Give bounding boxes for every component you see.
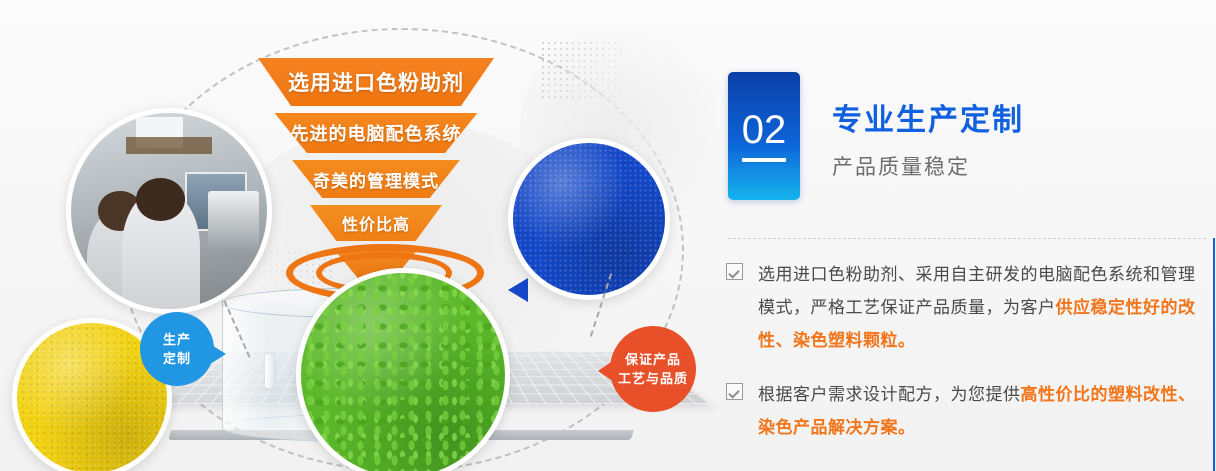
blue-pigment-powder bbox=[508, 138, 670, 300]
cylinder-handle-left bbox=[265, 354, 274, 388]
factory-lab-photo bbox=[66, 108, 272, 314]
checkbox-checked-icon bbox=[726, 263, 743, 280]
badge-orange-line-2: 工艺与品质 bbox=[618, 369, 688, 388]
illustration-panel: 选用进口色粉助剂 先进的电脑配色系统 奇美的管理模式 性价比高 bbox=[0, 0, 716, 471]
page-subtitle: 产品质量稳定 bbox=[832, 151, 1024, 181]
funnel-level-1: 选用进口色粉助剂 bbox=[258, 58, 494, 106]
page-title: 专业生产定制 bbox=[832, 104, 1024, 139]
promo-banner: 选用进口色粉助剂 先进的电脑配色系统 奇美的管理模式 性价比高 bbox=[0, 0, 1216, 471]
section-number-badge: 02 bbox=[728, 72, 800, 200]
halftone-dots-1 bbox=[540, 40, 626, 100]
right-edge-accent-line bbox=[1213, 238, 1215, 471]
heading-block: 专业生产定制 产品质量稳定 bbox=[832, 104, 1024, 181]
bullet-2-plain: 根据客户需求设计配方，为您提供 bbox=[758, 385, 1021, 404]
badge-blue-line-1: 生产 bbox=[163, 330, 191, 349]
divider bbox=[728, 238, 1206, 239]
funnel-level-4: 性价比高 bbox=[310, 205, 442, 241]
badge-production-custom: 生产 定制 bbox=[140, 312, 214, 386]
green-plastic-pellets bbox=[296, 268, 510, 471]
content-panel: 02 专业生产定制 产品质量稳定 选用进口色粉助剂、采用自主研发的电脑配色系统和… bbox=[716, 0, 1216, 471]
badge-quality-guarantee: 保证产品 工艺与品质 bbox=[610, 326, 696, 412]
funnel-level-3: 奇美的管理模式 bbox=[292, 160, 460, 198]
list-item: 选用进口色粉助剂、采用自主研发的电脑配色系统和管理模式，严格工艺保证产品质量，为… bbox=[726, 258, 1212, 357]
bullet-1-text: 选用进口色粉助剂、采用自主研发的电脑配色系统和管理模式，严格工艺保证产品质量，为… bbox=[758, 258, 1212, 357]
bullet-2-text: 根据客户需求设计配方，为您提供高性价比的塑料改性、染色产品解决方案。 bbox=[758, 378, 1212, 444]
list-item: 根据客户需求设计配方，为您提供高性价比的塑料改性、染色产品解决方案。 bbox=[726, 378, 1212, 444]
section-number: 02 bbox=[742, 110, 787, 162]
checkbox-checked-icon bbox=[726, 383, 743, 400]
funnel-level-2: 先进的电脑配色系统 bbox=[275, 113, 478, 153]
badge-blue-line-2: 定制 bbox=[163, 349, 191, 368]
funnel-diagram: 选用进口色粉助剂 先进的电脑配色系统 奇美的管理模式 性价比高 bbox=[258, 58, 494, 258]
badge-orange-line-1: 保证产品 bbox=[625, 350, 681, 369]
